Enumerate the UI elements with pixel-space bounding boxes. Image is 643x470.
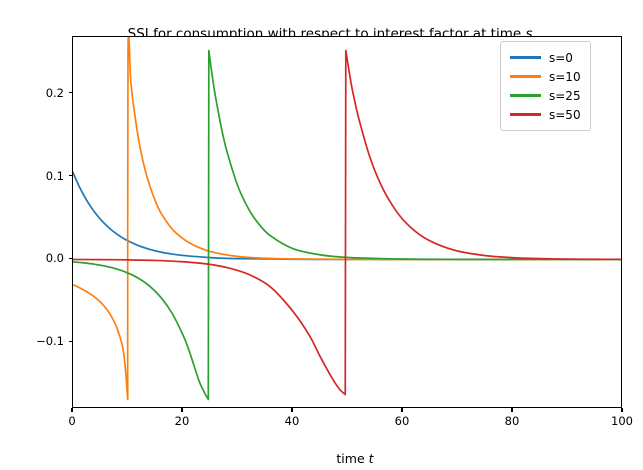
y-tick-mark (69, 258, 73, 259)
series-line-s0-post (73, 173, 622, 260)
x-tick-label: 0 (68, 414, 75, 428)
x-tick-mark (291, 408, 292, 412)
x-axis-label: time t (72, 436, 622, 470)
series-line-s10-pre (73, 285, 127, 389)
legend-label: s=25 (549, 89, 581, 103)
y-tick-label: 0.2 (46, 86, 64, 100)
legend-item-s25[interactable]: s=25 (510, 86, 581, 105)
series-line-s25-pre (73, 262, 208, 400)
x-tick-label: 40 (285, 414, 300, 428)
y-tick-label: 0.1 (46, 169, 64, 183)
x-tick-mark (401, 408, 402, 412)
legend-item-s0[interactable]: s=0 (510, 48, 581, 67)
y-tick-mark (69, 341, 73, 342)
series-jump-s50 (345, 51, 346, 395)
x-tick-mark (511, 408, 512, 412)
series-jump-s10 (127, 389, 128, 400)
legend-label: s=0 (549, 51, 573, 65)
legend-label: s=50 (549, 108, 581, 122)
x-axis-label-text: time (336, 451, 368, 466)
legend: s=0s=10s=25s=50 (500, 41, 591, 131)
legend-item-s10[interactable]: s=10 (510, 67, 581, 86)
x-axis-label-italic-t: t (369, 451, 374, 466)
x-tick-mark (71, 408, 72, 412)
x-tick-mark (621, 408, 622, 412)
legend-color-swatch (510, 94, 541, 96)
x-tick-label: 60 (395, 414, 410, 428)
legend-color-swatch (510, 75, 541, 77)
y-tick-mark (69, 92, 73, 93)
series-jump-s25 (208, 51, 209, 400)
y-tick-label: −0.1 (36, 334, 64, 348)
x-tick-label: 80 (505, 414, 520, 428)
x-tick-mark (181, 408, 182, 412)
x-tick-label: 100 (611, 414, 633, 428)
y-tick-mark (69, 175, 73, 176)
legend-color-swatch (510, 56, 541, 58)
matplotlib-figure: SSJ for consumption with respect to inte… (0, 0, 643, 470)
legend-label: s=10 (549, 70, 581, 84)
legend-color-swatch (510, 113, 541, 115)
legend-item-s50[interactable]: s=50 (510, 105, 581, 124)
y-tick-label: 0.0 (46, 251, 64, 265)
x-tick-label: 20 (175, 414, 190, 428)
